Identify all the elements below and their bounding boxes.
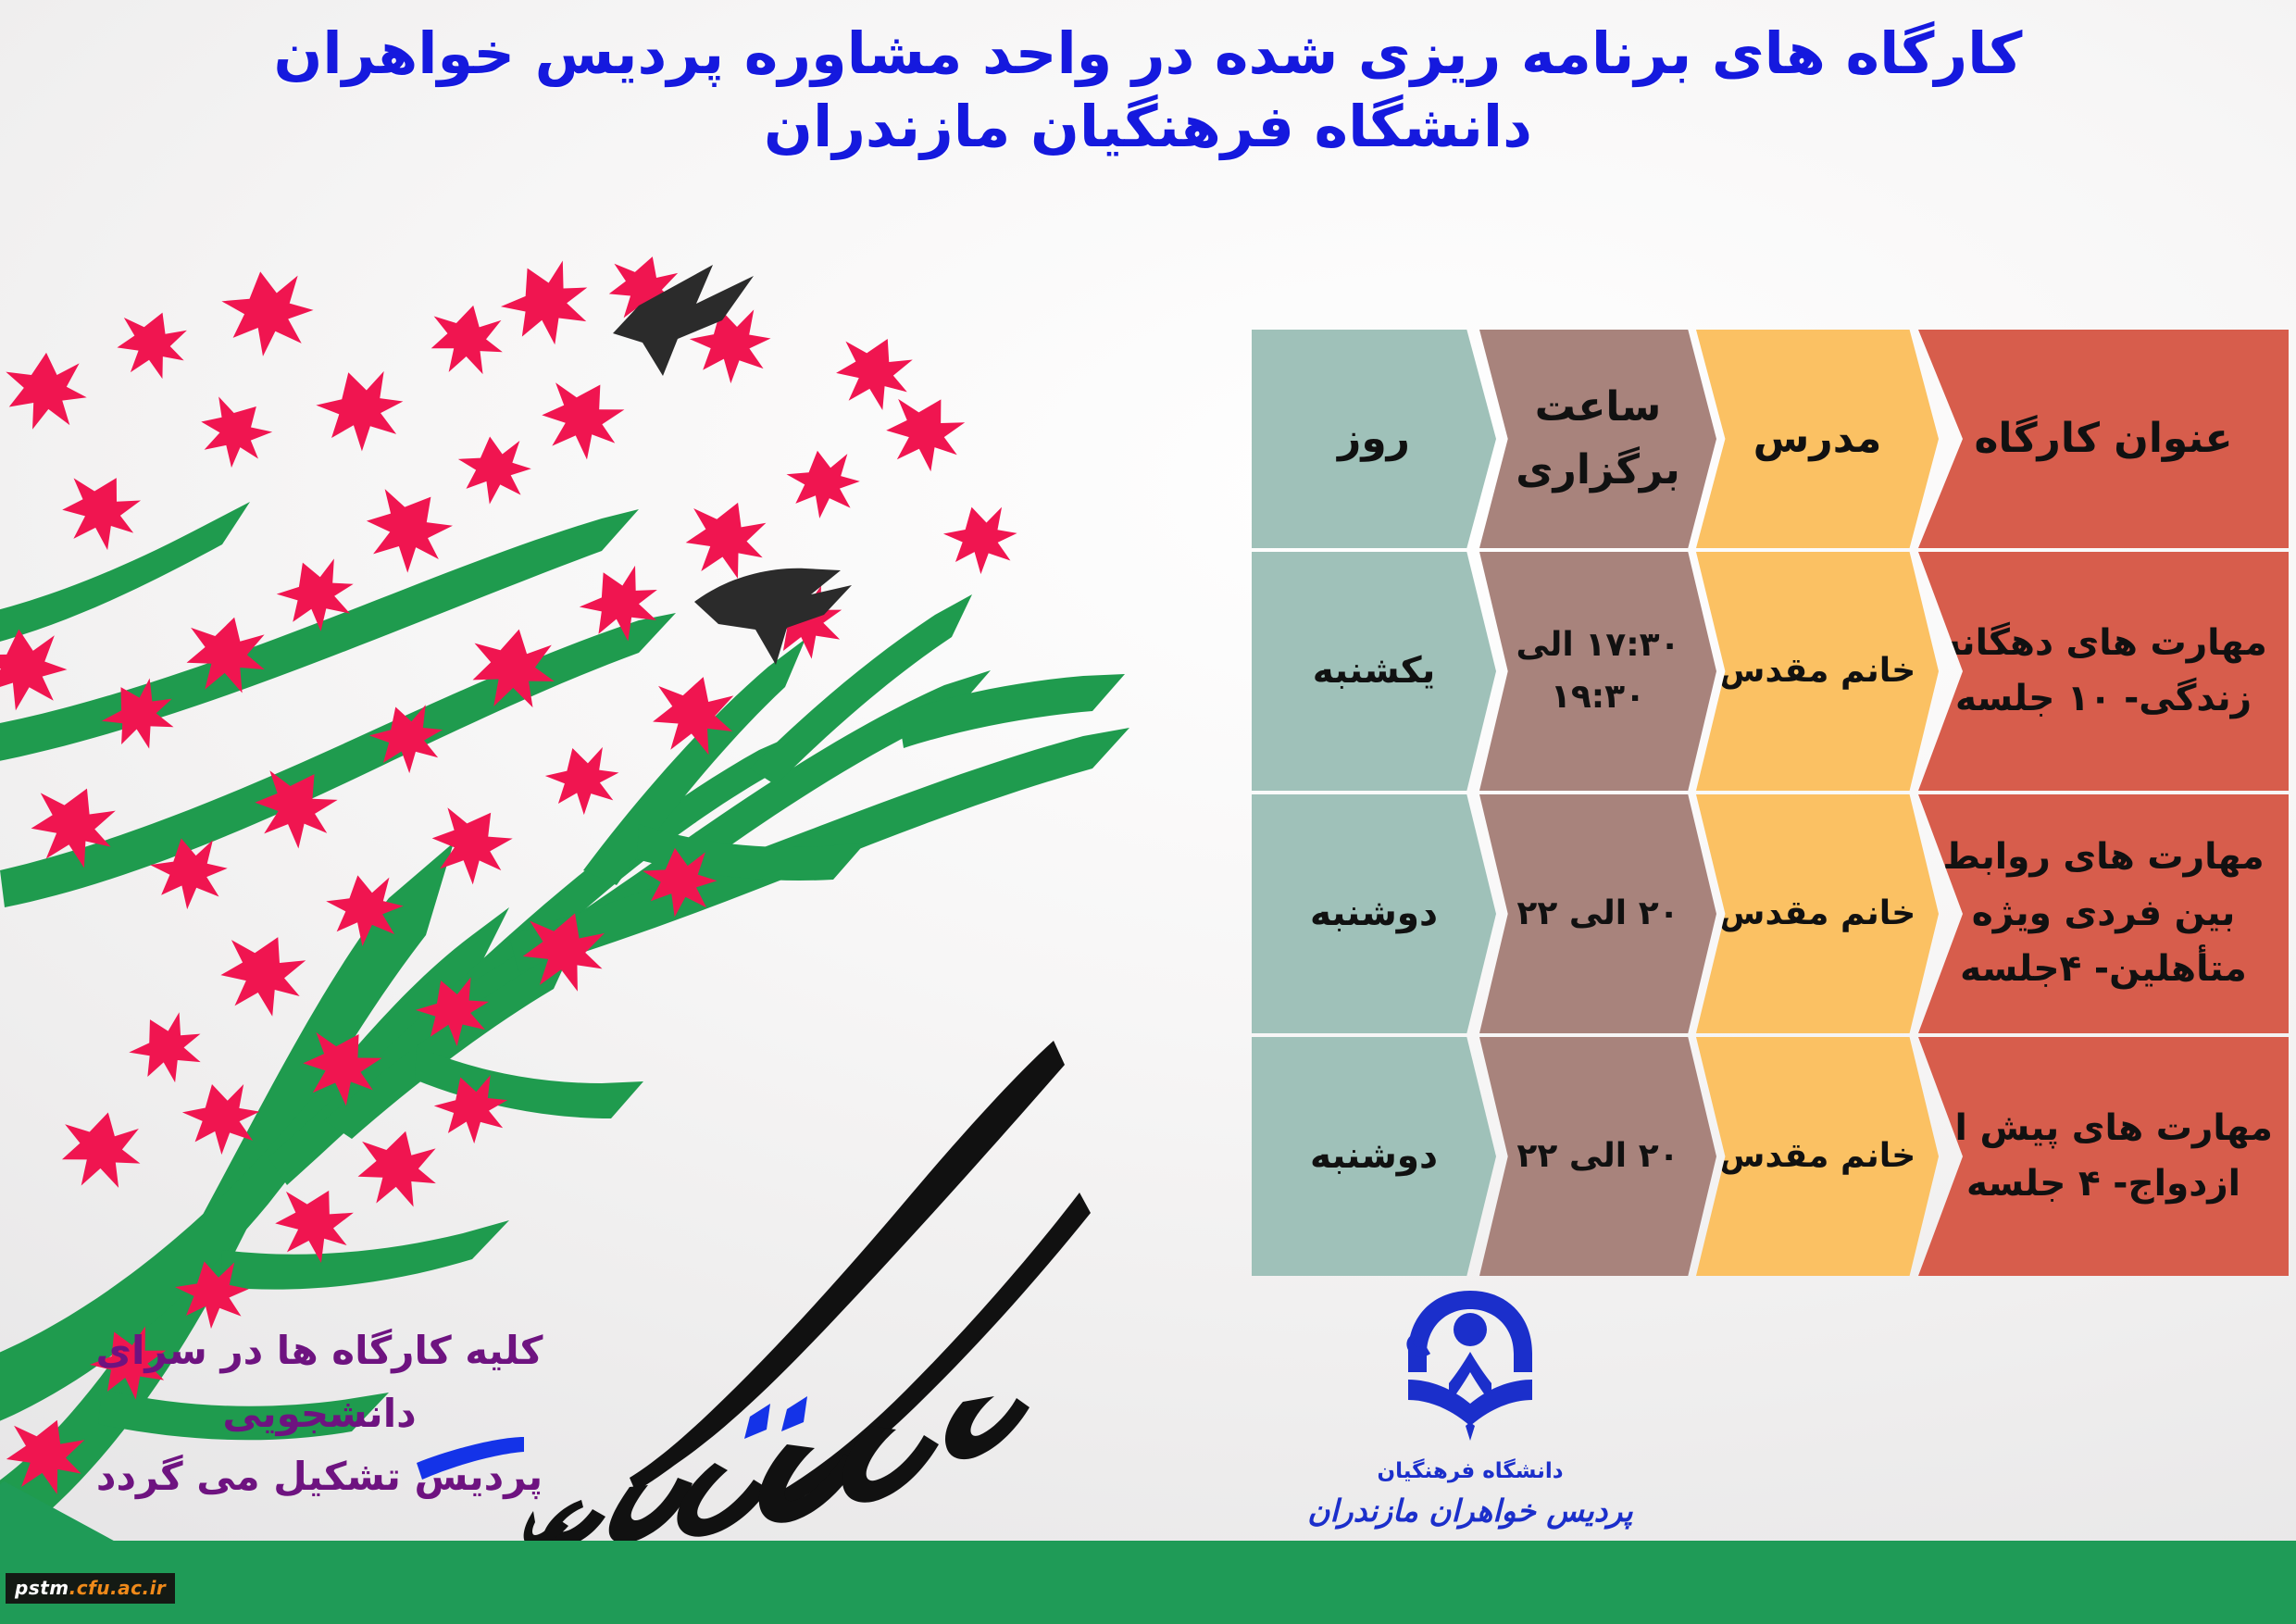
header-cell-time: ساعت برگزاری [1479, 330, 1716, 548]
cell-day: یکشنبه [1252, 552, 1496, 791]
table-row: مهارت های پیش از ازدواج- ۴ جلسه خانم مقد… [1252, 1037, 2289, 1276]
university-logo-block: دانشگاه فرهنگیان پردیس خواهران مازندران [1276, 1287, 1665, 1529]
watermark-suffix: .cfu.ac.ir [69, 1577, 167, 1599]
cell-tutor: خانم مقدس [1696, 1037, 1939, 1276]
header-cell-workshop: عنوان کارگاه [1918, 330, 2289, 548]
cell-time: ۱۷:۳۰ الی ۱۹:۳۰ [1479, 552, 1716, 791]
cell-tutor: خانم مقدس [1696, 552, 1939, 791]
footer-note-line-2: پردیس تشکیل می گردد [19, 1445, 620, 1508]
title-line-2: دانشگاه فرهنگیان مازندران [0, 90, 2296, 163]
poster-canvas: کارگاه های برنامه ریزی شده در واحد مشاور… [0, 0, 2296, 1624]
cell-time: ۲۰ الی ۲۲ [1479, 794, 1716, 1033]
cell-day: دوشنبه [1252, 1037, 1496, 1276]
title-line-1: کارگاه های برنامه ریزی شده در واحد مشاور… [0, 17, 2296, 90]
cell-tutor: خانم مقدس [1696, 794, 1939, 1033]
header-cell-tutor: مدرس [1696, 330, 1939, 548]
footer-note-line-1: کلیه کارگاه ها در سرای دانشجویی [19, 1319, 620, 1445]
cell-day: دوشنبه [1252, 794, 1496, 1033]
logo-caption: دانشگاه فرهنگیان [1276, 1459, 1665, 1483]
cell-time: ۲۰ الی ۲۲ [1479, 1037, 1716, 1276]
cell-workshop: مهارت های روابط بین فردی ویژه متأهلین- ۴… [1918, 794, 2289, 1033]
workshops-table: عنوان کارگاه مدرس ساعت برگزاری روز مهارت… [1252, 330, 2289, 1283]
cell-workshop: مهارت های پیش از ازدواج- ۴ جلسه [1918, 1037, 2289, 1276]
header-cell-day: روز [1252, 330, 1496, 548]
table-header-row: عنوان کارگاه مدرس ساعت برگزاری روز [1252, 330, 2289, 548]
table-row: مهارت های دهگانه زندگی- ۱۰ جلسه خانم مقد… [1252, 552, 2289, 791]
university-logo-icon [1391, 1287, 1549, 1454]
poster-title: کارگاه های برنامه ریزی شده در واحد مشاور… [0, 17, 2296, 164]
logo-subtitle: پردیس خواهران مازندران [1276, 1493, 1665, 1529]
footer-note: کلیه کارگاه ها در سرای دانشجویی پردیس تش… [19, 1319, 620, 1508]
site-watermark: pstm.cfu.ac.ir [6, 1573, 175, 1604]
table-row: مهارت های روابط بین فردی ویژه متأهلین- ۴… [1252, 794, 2289, 1033]
cell-workshop: مهارت های دهگانه زندگی- ۱۰ جلسه [1918, 552, 2289, 791]
watermark-prefix: pstm [15, 1577, 69, 1599]
green-bottom-band [0, 1541, 2296, 1624]
